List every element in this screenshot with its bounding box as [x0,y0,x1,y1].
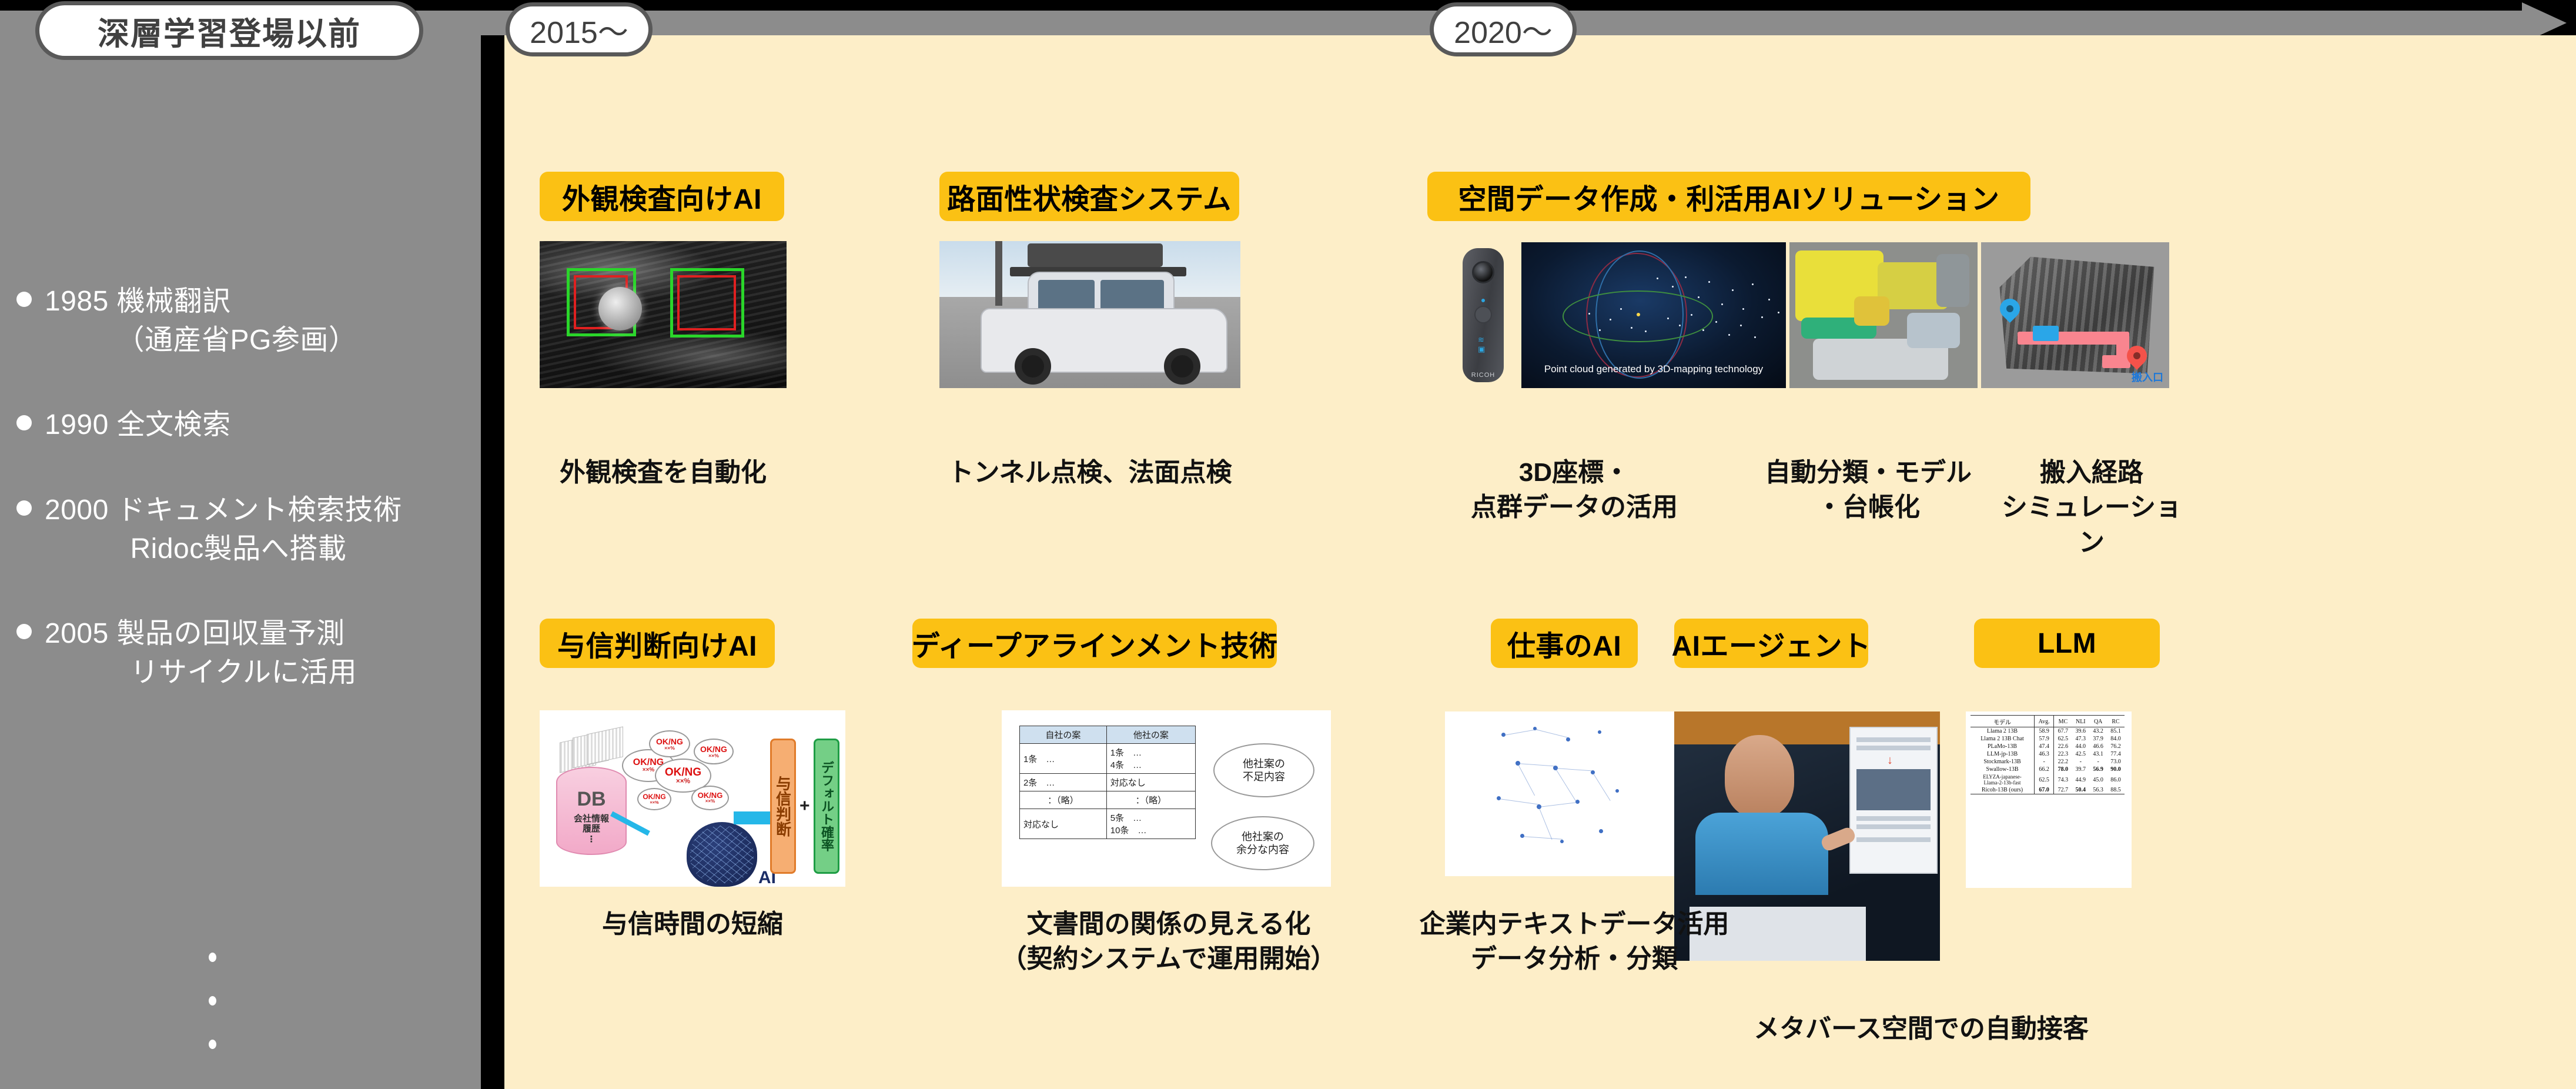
point-cloud-caption: Point cloud generated by 3D-mapping tech… [1521,363,1786,375]
road-survey-vehicle-image [939,241,1240,388]
graph-edge [1555,768,1593,771]
class-region-grey2 [1907,313,1960,348]
badge-credit-ai[interactable]: 与信判断向けAI [540,619,775,668]
orbit-ring-green [1563,290,1713,342]
align-col-own: 自社の案 [1020,726,1107,744]
list-item: 1985 機械翻訳 （通産省PG参画） [16,282,481,360]
badge-spatial-data-ai[interactable]: 空間データ作成・利活用AIソリューション [1427,172,2030,221]
badge-road-survey[interactable]: 路面性状検査システム [939,172,1239,221]
bubble-main: OK/NG [700,745,727,753]
caption-auto-classification: 自動分類・モデル ・台帳化 [1751,455,1986,525]
th-nli: NLI [2072,716,2089,727]
th-mc: MC [2054,716,2072,727]
align-cell: 5条 … 10条 … [1106,809,1195,839]
class-region-ochre [1854,296,1889,326]
table-row: PLaMo-13B 47.4 22.6 44.0 46.6 76.2 [1971,743,2125,750]
alignment-table-image: 自社の案 他社の案 1条 … 1条 … 4条 … 2条 … 対応なし ：（略） … [1002,710,1331,887]
prediction-bubble: OK/NG ××% [694,739,734,764]
cell-nli: 42.5 [2072,750,2089,758]
dot-icon [209,996,216,1006]
cell-model: Stockmark-13B [1971,758,2035,766]
table-row: 1条 … 1条 … 4条 … [1020,744,1196,774]
class-region-grey3 [1936,254,1969,307]
graph-node [1615,789,1619,793]
cell-model: Llama 2 13B [1971,727,2035,736]
table-row: 対応なし 5条 … 10条 … [1020,809,1196,839]
cell-rc: 88.5 [2107,786,2125,794]
th-avg: Avg. [2035,716,2054,727]
table-row: Ricoh-13B (ours) 67.0 72.7 50.4 56.3 88.… [1971,786,2125,794]
callout-extra-content: 他社案の 余分な内容 [1211,816,1314,870]
table-row: Llama 2 13B 58.9 67.7 39.6 43.2 85.1 [1971,727,2125,736]
cell-nli: 39.6 [2072,727,2089,736]
cell-model: ELYZA-japanese- Llama-2-13b-fast [1971,773,2035,786]
graph-edge [1517,763,1535,796]
origin-marker [1637,313,1640,316]
graph-edge [1539,802,1578,807]
cell-mc: 74.3 [2054,773,2072,786]
align-cell: 2条 … [1020,774,1107,791]
th-qa: QA [2089,716,2107,727]
bubble-sub: ××% [664,746,675,751]
prediction-bubble: OK/NG ××% [691,786,729,810]
cell-rc: 77.4 [2107,750,2125,758]
prediction-bubble: OK/NG ××% [649,730,690,757]
align-cell: ：（略） [1020,791,1107,809]
entrance-label: 搬入口 [2132,369,2163,385]
sensor-mast [995,241,1002,306]
cell-model: PLaMo-13B [1971,743,2035,750]
cell-nli: 44.0 [2072,743,2089,750]
cell-qa: 43.2 [2089,727,2107,736]
badge-work-ai[interactable]: 仕事のAI [1491,619,1638,668]
cell-avg: 57.9 [2035,735,2054,743]
pill-2015[interactable]: 2015～ [506,2,653,56]
align-cell: ：（略） [1106,791,1195,809]
caption-route-simulation: 搬入経路 シミュレーション [1992,455,2192,560]
camera-lens-icon [1472,261,1494,283]
bubble-main: OK/NG [665,767,701,778]
cell-nli: 44.9 [2072,773,2089,786]
cell-nli: - [2072,758,2089,766]
credit-decision-output: 与信判断 [770,739,796,874]
align-col-other: 他社の案 [1106,726,1195,744]
legacy-item-label: 1985 機械翻訳 （通産省PG参画） [45,282,357,360]
route-simulation-image: 搬入口 [1981,242,2169,388]
cell-rc: 90.0 [2107,766,2125,773]
cell-model: Ricoh-13B (ours) [1971,786,2035,794]
badge-appearance-inspection[interactable]: 外観検査向けAI [540,172,784,221]
table-row: ：（略） ：（略） [1020,791,1196,809]
align-cell: 対応なし [1020,809,1107,839]
cell-qa: 56.9 [2089,766,2107,773]
cell-avg: 66.2 [2035,766,2054,773]
slide-root: 1985 機械翻訳 （通産省PG参画） 1990 全文検索 2000 ドキュメン… [0,0,2576,1089]
camera-brand-label: RICOH [1451,372,1516,379]
caption-deep-alignment: 文書間の関係の見える化 （契約システムで運用開始） [986,907,1351,977]
list-item: 2000 ドキュメント検索技術 Ridoc製品へ搭載 [16,491,481,569]
bullet-icon [16,292,32,307]
graph-edge [1499,799,1540,805]
alignment-table: 自社の案 他社の案 1条 … 1条 … 4条 … 2条 … 対応なし ：（略） … [1019,726,1196,839]
dot-icon [209,1040,216,1049]
table-row: ELYZA-japanese- Llama-2-13b-fast 62.5 74… [1971,773,2125,786]
caption-ai-agent: メタバース空間での自動接客 [1715,1011,2127,1046]
cell-avg: 58.9 [2035,727,2054,736]
graph-edge [1535,729,1569,738]
cell-rc: 76.2 [2107,743,2125,750]
database-cylinder-icon: DB 会社情報 履歴 ⋮ [556,767,627,855]
graph-node [1599,829,1603,833]
badge-llm[interactable]: LLM [1974,619,2160,668]
cell-mc: 62.5 [2054,735,2072,743]
callout-missing-content: 他社案の 不足内容 [1213,743,1314,797]
legacy-item-label: 2000 ドキュメント検索技術 Ridoc製品へ搭載 [45,491,402,569]
cell-mc: 22.3 [2054,750,2072,758]
llm-benchmark-image: モデル Avg. MC NLI QA RC Llama 2 13B 58.9 6… [1966,711,2132,888]
cell-model: Llama 2 13B Chat [1971,735,2035,743]
align-cell: 対応なし [1106,774,1195,791]
bullet-icon [16,624,32,639]
legacy-panel: 1985 機械翻訳 （通産省PG参画） 1990 全文検索 2000 ドキュメン… [0,35,481,1089]
pill-pre-deep-learning[interactable]: 深層学習登場以前 [35,1,423,60]
point-cloud-image: Point cloud generated by 3D-mapping tech… [1521,242,1786,388]
badge-deep-alignment[interactable]: ディープアラインメント技術 [912,619,1277,668]
graph-edge [1523,836,1563,840]
appearance-inspection-image [540,241,787,388]
cell-avg: - [2035,758,2054,766]
default-probability-output: デフォルト確率 [814,739,839,874]
equipment-highlight [2033,326,2059,341]
cell-mc: 67.7 [2054,727,2072,736]
text-network-graph-image [1445,711,1680,876]
cell-mc: 78.0 [2054,766,2072,773]
th-rc: RC [2107,716,2125,727]
legacy-list: 1985 機械翻訳 （通産省PG参画） 1990 全文検索 2000 ドキュメン… [16,282,481,739]
cell-nli: 50.4 [2072,786,2089,794]
legacy-item-label: 1990 全文検索 [45,406,231,445]
cell-rc: 73.0 [2107,758,2125,766]
theta-camera-image: ≋ ▣ RICOH [1451,242,1516,388]
bubble-sub: ××% [643,767,654,773]
list-item: 1990 全文検索 [16,406,481,445]
graph-edge [1538,807,1552,840]
cell-avg: 67.0 [2035,786,2054,794]
cell-qa: - [2089,758,2107,766]
continuation-dots [209,953,216,1049]
graph-edge [1555,768,1576,801]
legacy-item-label: 2005 製品の回収量予測 リサイクルに活用 [45,614,357,692]
caption-road-survey: トンネル点検、法面点検 [925,455,1254,490]
cell-rc: 86.0 [2107,773,2125,786]
avatar-torso [1695,813,1828,895]
panel-divider [481,35,504,1089]
graph-edge [1593,773,1611,801]
defect-disc [598,287,642,330]
graph-edge [1504,729,1537,736]
cell-mc: 22.6 [2054,743,2072,750]
pill-2020[interactable]: 2020～ [1430,2,1577,56]
th-model: モデル [1971,716,2035,727]
cell-nli: 47.3 [2072,735,2089,743]
camera-mode-icon: ▣ [1478,345,1485,354]
detection-box-red [677,275,736,330]
plus-icon: + [799,796,810,816]
cell-avg: 46.3 [2035,750,2054,758]
cell-avg: 47.4 [2035,743,2054,750]
bubble-sub: ××% [650,800,658,804]
graph-node [1598,730,1601,734]
cell-qa: 45.0 [2089,773,2107,786]
cell-rc: 84.0 [2107,735,2125,743]
down-arrow-icon: ↓ [1887,754,1893,767]
vehicle-wheel [1015,348,1051,385]
cell-qa: 56.3 [2089,786,2107,794]
list-item: 2005 製品の回収量予測 リサイクルに活用 [16,614,481,692]
panel-preview [1856,769,1931,810]
caption-appearance-inspection: 外観検査を自動化 [540,455,787,490]
vehicle-wheel [1164,348,1200,385]
bubble-sub: ××% [676,778,690,785]
wifi-icon: ≋ [1478,335,1484,345]
ai-brain-icon [687,822,757,887]
caption-3d-coordinates: 3D座標・ 点群データの活用 [1427,455,1721,525]
table-header-row: モデル Avg. MC NLI QA RC [1971,716,2125,727]
bubble-sub: ××% [708,753,719,759]
cell-mc: 22.2 [2054,758,2072,766]
cell-avg: 62.5 [2035,773,2054,786]
table-row: Swallow-13B 66.2 78.0 39.7 56.9 90.0 [1971,766,2125,773]
dot-icon [209,953,216,962]
bullet-icon [16,500,32,516]
shutter-button[interactable] [1474,306,1492,323]
credit-decision-image: DB 会社情報 履歴 ⋮ OK/NG ××% OK/NG ××% OK/NG ×… [540,710,845,887]
cell-qa: 43.1 [2089,750,2107,758]
badge-ai-agent[interactable]: AIエージェント [1674,619,1868,668]
bubble-main: OK/NG [656,737,683,746]
flow-arrow-icon [734,811,772,824]
caption-credit-ai: 与信時間の短縮 [540,907,845,941]
cell-nli: 39.7 [2072,766,2089,773]
align-cell: 1条 … [1020,744,1107,774]
cell-model: Swallow-13B [1971,766,2035,773]
table-row: Stockmark-13B - 22.2 - - 73.0 [1971,758,2125,766]
service-info-panel: ↓ [1849,727,1938,874]
table-row: 2条 … 対応なし [1020,774,1196,791]
bullet-icon [16,415,32,430]
avatar-head [1725,735,1794,817]
graph-edge [1518,763,1557,767]
cell-mc: 72.7 [2054,786,2072,794]
graph-node [1560,840,1564,843]
caption-work-ai: 企業内テキストデータ活用 データ分析・分類 [1410,907,1739,977]
table-row: Llama 2 13B Chat 57.9 62.5 47.3 37.9 84.… [1971,735,2125,743]
table-row: LLM-jp-13B 46.3 22.3 42.5 43.1 77.4 [1971,750,2125,758]
align-cell: 1条 … 4条 … [1106,744,1195,774]
cell-qa: 46.6 [2089,743,2107,750]
cell-rc: 85.1 [2107,727,2125,736]
llm-results-table: モデル Avg. MC NLI QA RC Llama 2 13B 58.9 6… [1971,715,2125,794]
roof-sensor-box [1028,243,1163,267]
camera-led-icon [1481,299,1485,302]
classified-model-image [1789,242,1978,388]
bubble-sub: ××% [705,799,715,804]
content-canvas: 外観検査向けAI 路面性状検査システム 空間データ作成・利活用AIソリューション [504,35,2576,1089]
db-label: DB [557,788,625,811]
prediction-bubble: OK/NG ××% [637,788,671,810]
cell-model: LLM-jp-13B [1971,750,2035,758]
cell-qa: 37.9 [2089,735,2107,743]
